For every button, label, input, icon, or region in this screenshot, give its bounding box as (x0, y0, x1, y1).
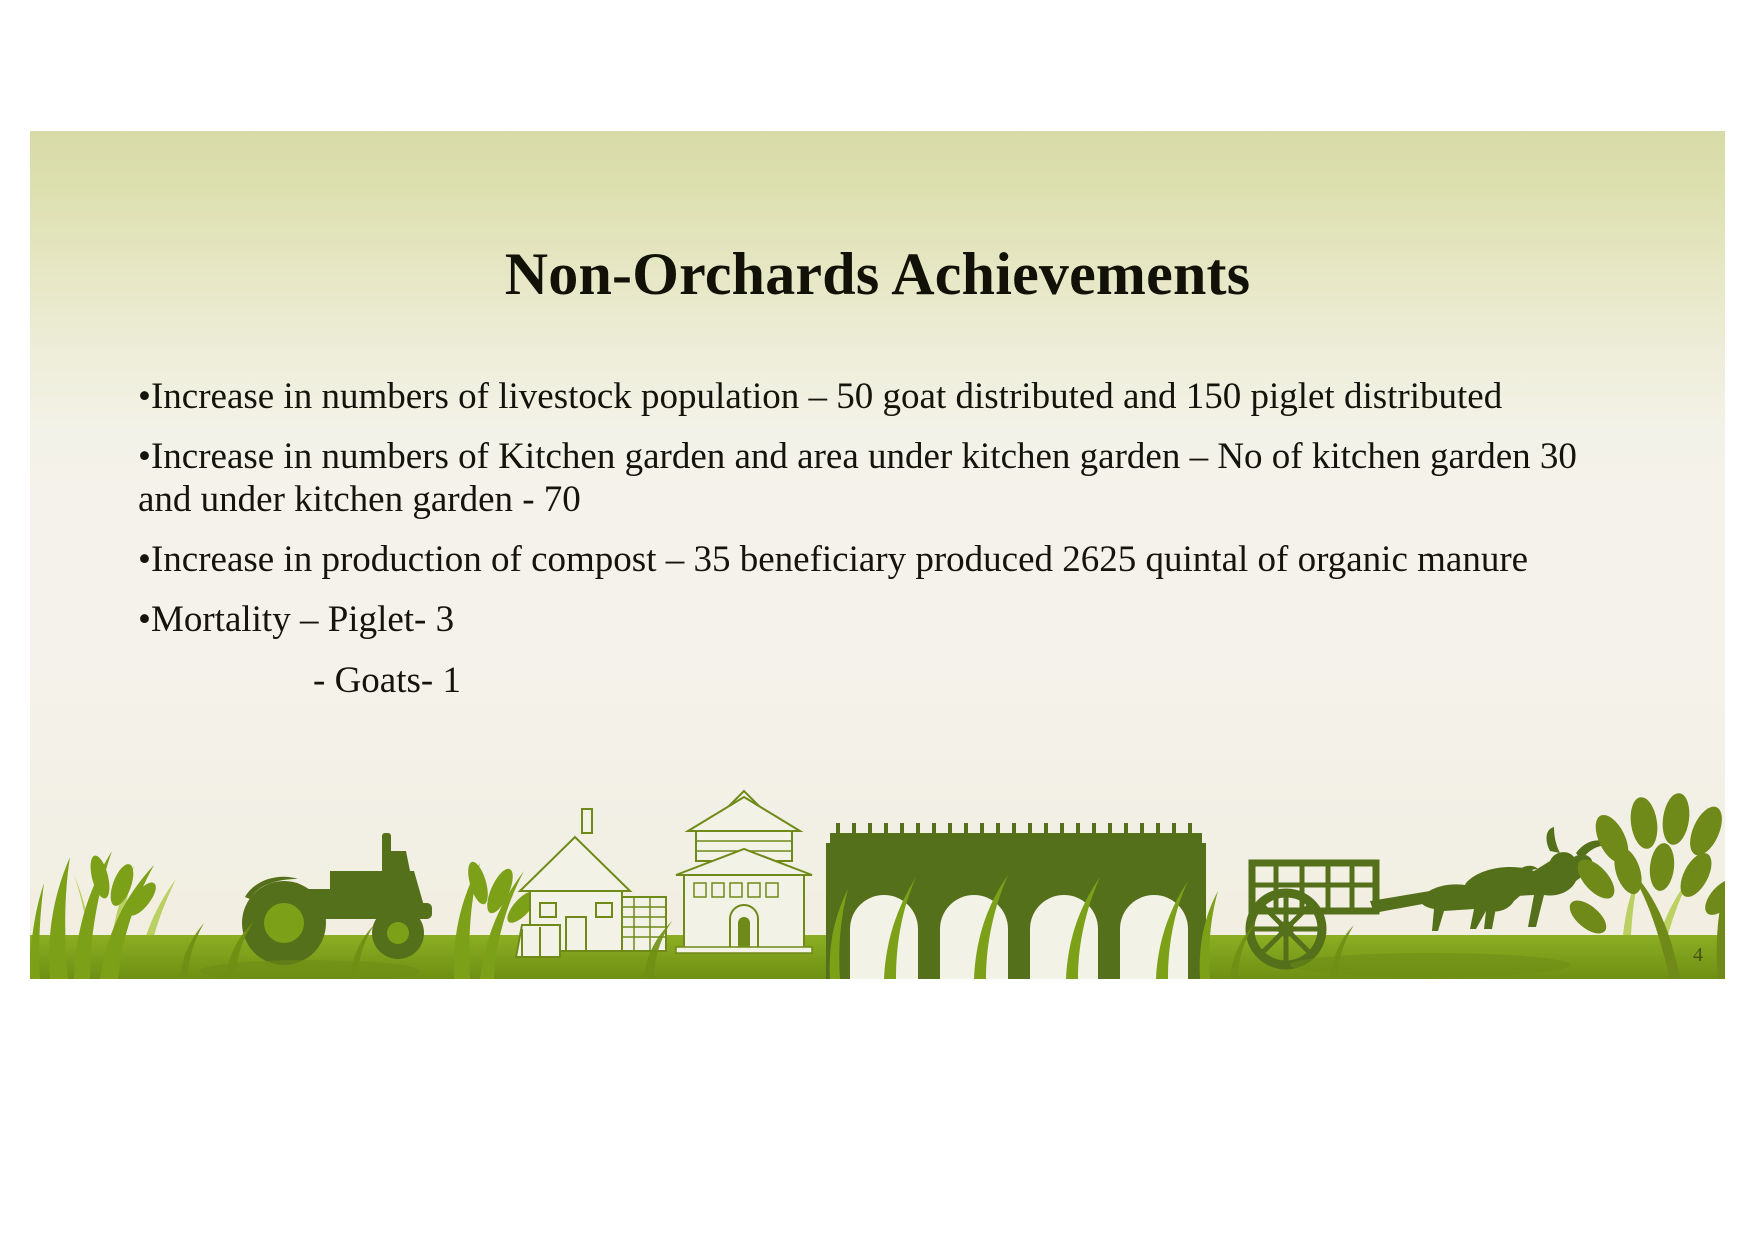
ground-strip (30, 935, 1725, 979)
grass-silhouette-left (30, 851, 161, 979)
bullet-list: •Increase in numbers of livestock popula… (138, 376, 1578, 702)
cart-reflection (1290, 953, 1570, 977)
grass-silhouette-foreground (180, 921, 1354, 979)
slide-page: Non-Orchards Achievements •Increase in n… (0, 0, 1755, 1240)
farmhouse-illustration (516, 809, 666, 957)
bullock-cart-silhouette (1250, 827, 1608, 965)
list-item: •Increase in numbers of Kitchen garden a… (138, 436, 1578, 521)
barn-illustration (676, 791, 812, 953)
list-item: •Increase in numbers of livestock popula… (138, 376, 1578, 418)
stone-bridge-silhouette (826, 823, 1206, 979)
grass-silhouette-bridge (830, 875, 1218, 979)
list-item-sub: - Goats- 1 (313, 660, 1578, 702)
page-number: 4 (1693, 944, 1703, 967)
tractor-silhouette (242, 833, 432, 965)
tractor-reflection (200, 960, 420, 979)
grass-silhouette-back (74, 865, 1690, 979)
bridge-arches (850, 895, 1188, 979)
list-item: •Mortality – Piglet- 3 (138, 599, 1578, 641)
presentation-slide: Non-Orchards Achievements •Increase in n… (30, 131, 1725, 979)
farm-scene-artwork (30, 779, 1725, 979)
page-title: Non-Orchards Achievements (30, 241, 1725, 307)
list-item: •Increase in production of compost – 35 … (138, 539, 1578, 581)
grass-silhouette-mid (454, 860, 542, 979)
